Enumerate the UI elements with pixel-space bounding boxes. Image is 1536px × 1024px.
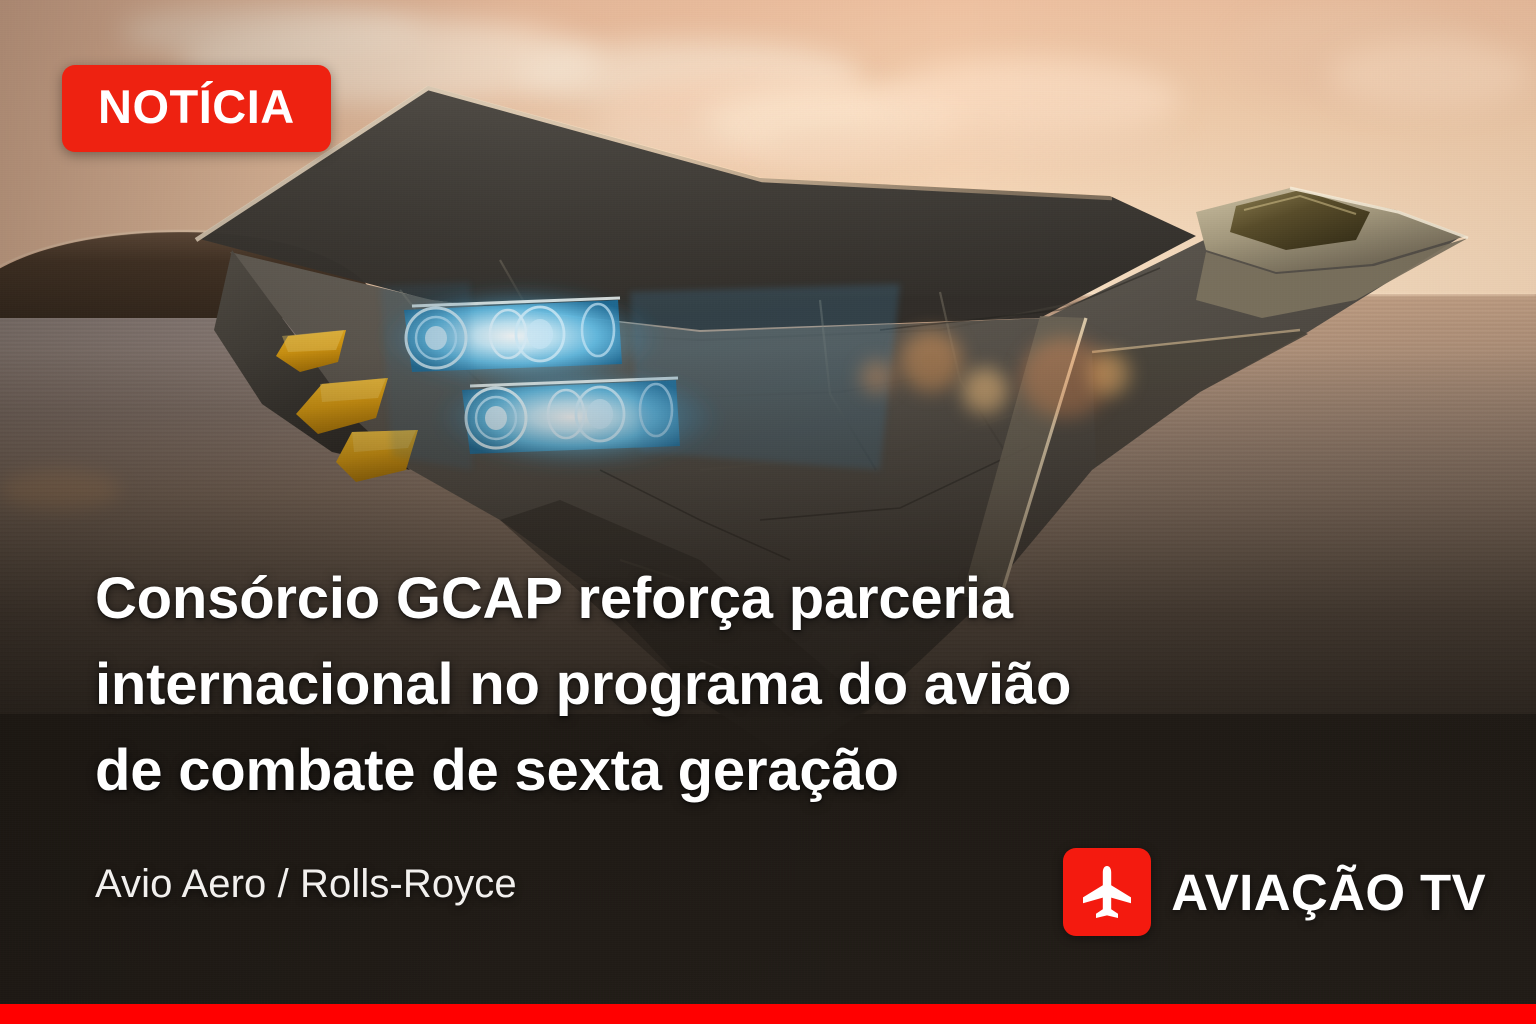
headline-line-1: Consórcio GCAP reforça parceria bbox=[95, 556, 1345, 642]
airplane-icon bbox=[1078, 863, 1136, 921]
brand-name: AVIAÇÃO TV bbox=[1171, 867, 1486, 918]
headline-line-3: de combate de sexta geração bbox=[95, 728, 1345, 814]
news-card: NOTÍCIA Consórcio GCAP reforça parceria … bbox=[0, 0, 1536, 1024]
headline-line-2: internacional no programa do avião bbox=[95, 642, 1345, 728]
brand-mark bbox=[1063, 848, 1151, 936]
image-credit: Avio Aero / Rolls-Royce bbox=[95, 862, 517, 907]
bottom-accent-bar bbox=[0, 1004, 1536, 1024]
news-badge-label: NOTÍCIA bbox=[98, 83, 295, 130]
brand-logo[interactable]: AVIAÇÃO TV bbox=[1063, 848, 1486, 936]
page-title: Consórcio GCAP reforça parceria internac… bbox=[95, 556, 1345, 814]
news-badge[interactable]: NOTÍCIA bbox=[62, 65, 331, 152]
